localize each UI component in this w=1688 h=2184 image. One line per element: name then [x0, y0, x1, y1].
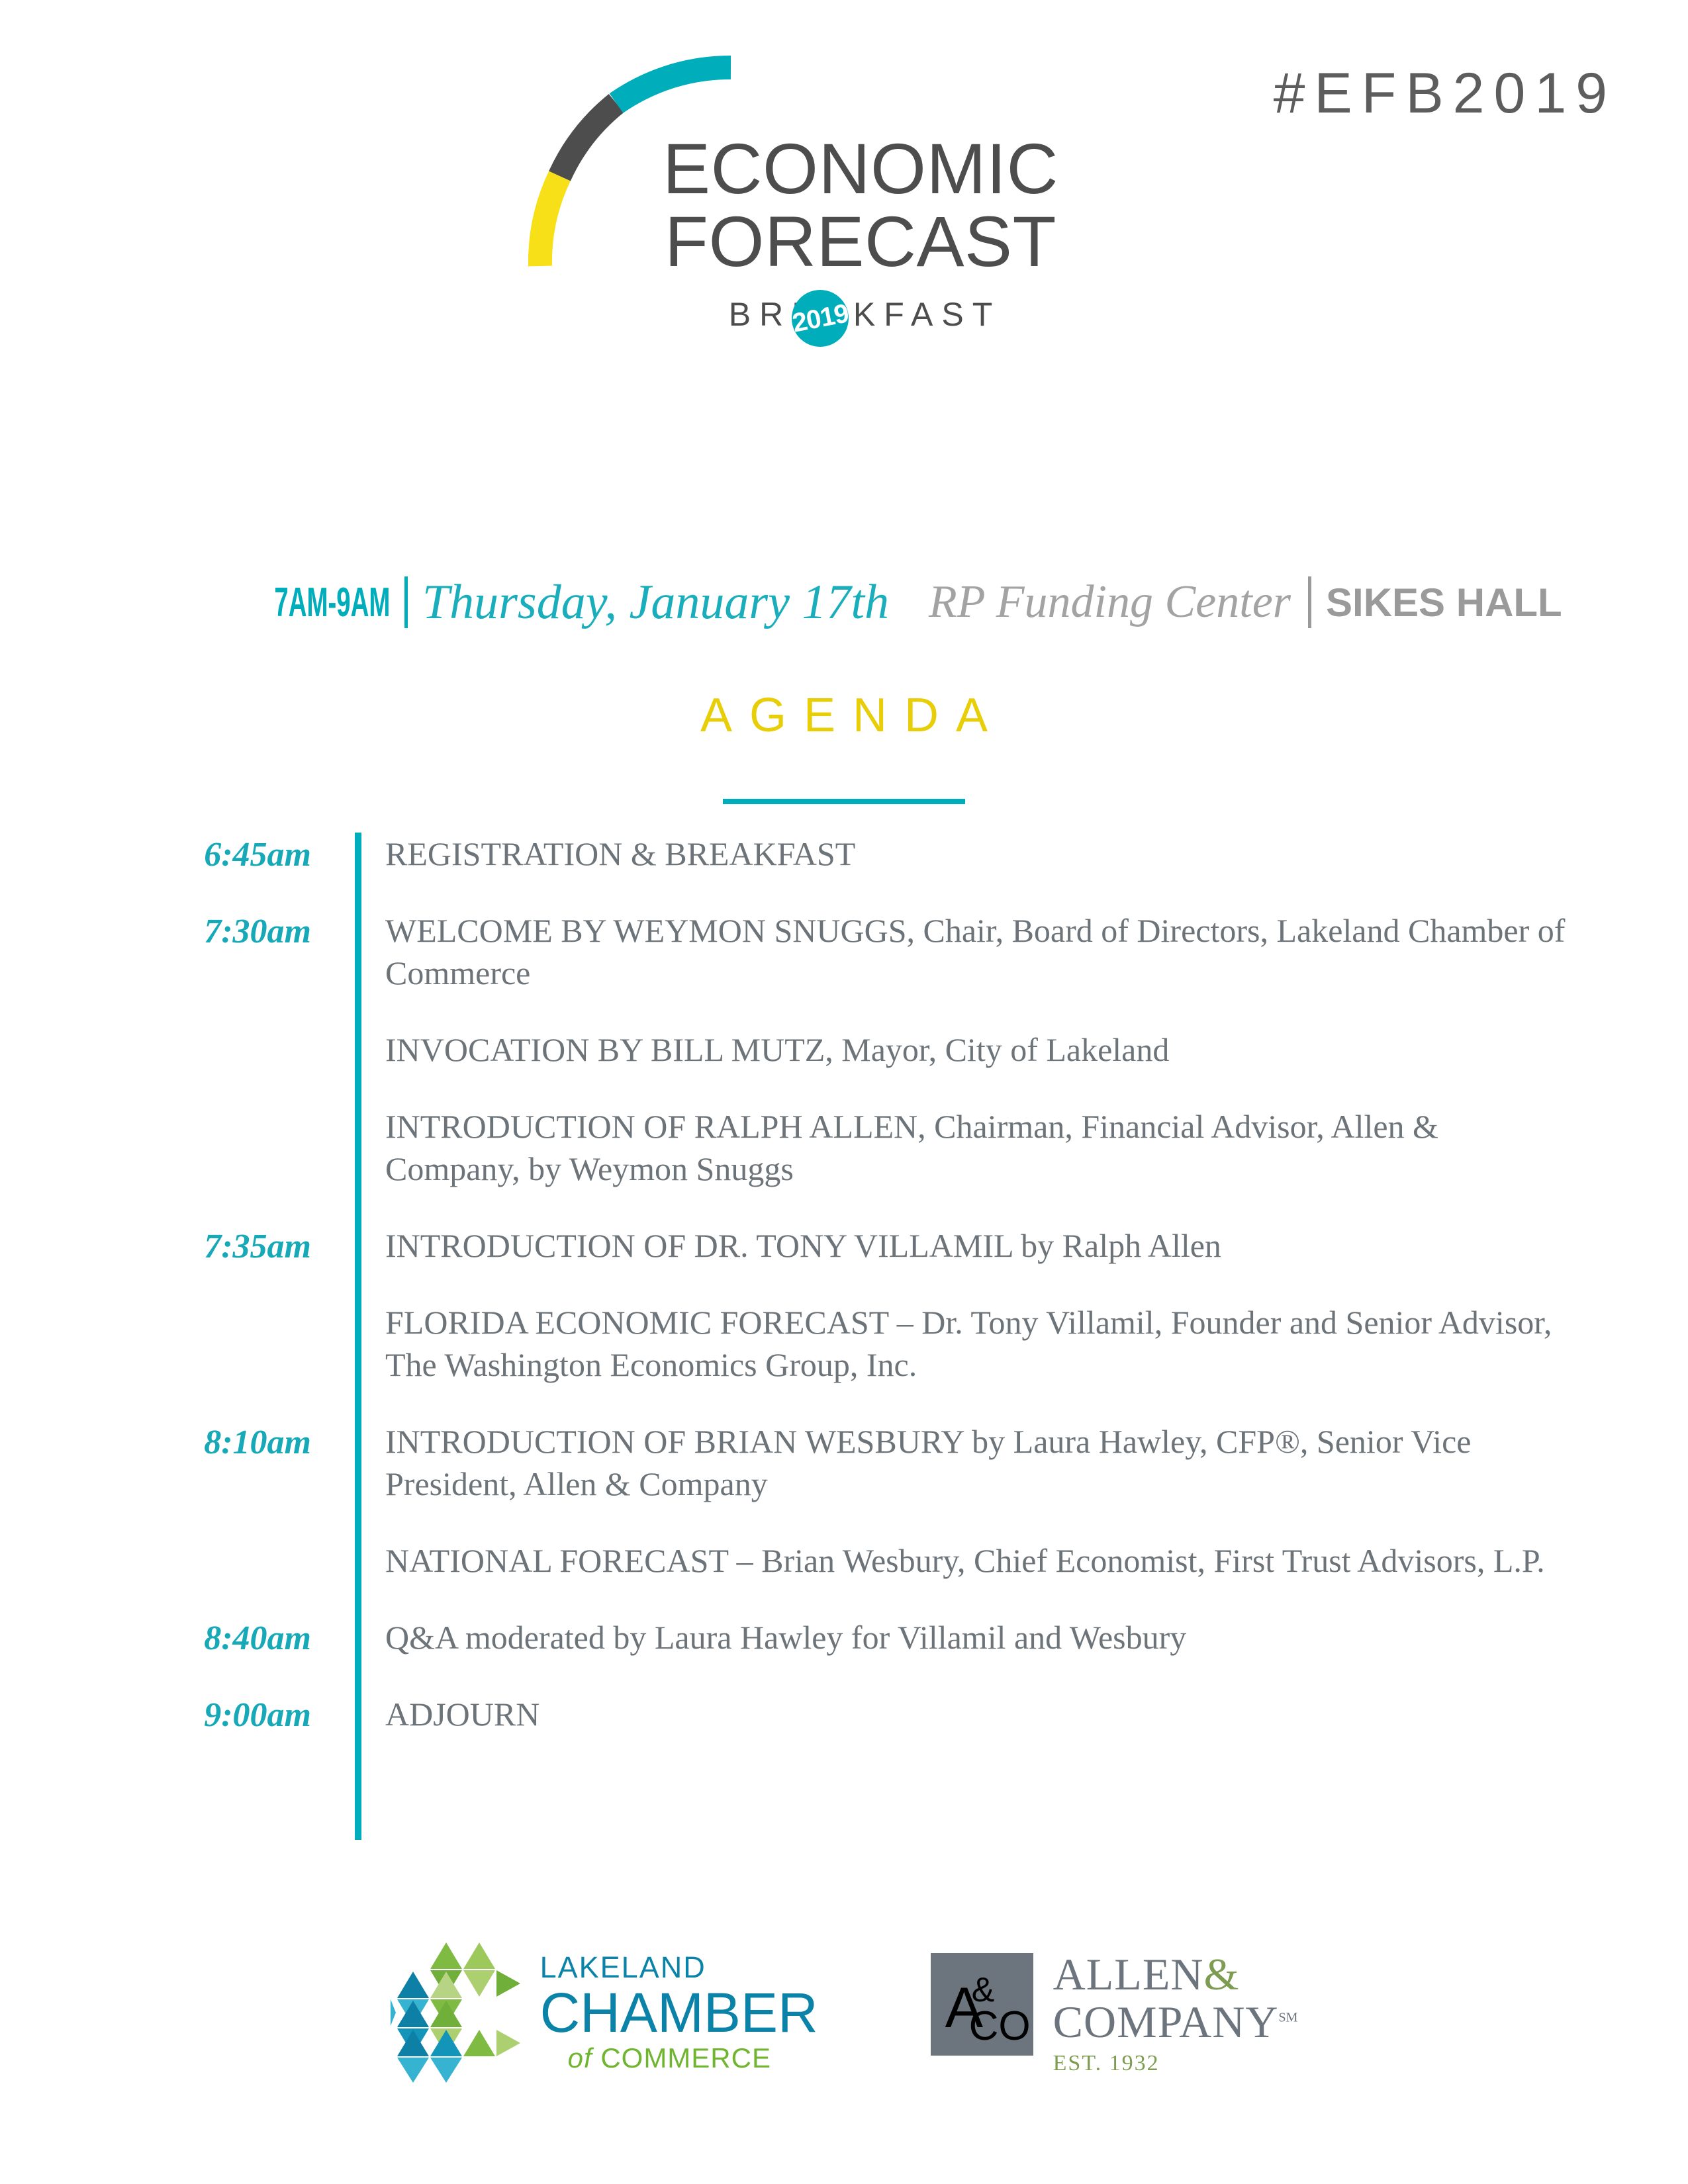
allen-and-company-logo: A & CO ALLEN& COMPANYSM EST. 1932 [931, 1949, 1298, 2075]
agenda-row: 7:35am INTRODUCTION OF DR. TONY VILLAMIL… [0, 1224, 1688, 1267]
allen-monogram-co: CO [969, 2006, 1031, 2047]
economic-forecast-breakfast-logo: ECONOMIC FORECAST BREAKFAST 2019 [0, 46, 1688, 483]
agenda-row-time: 8:40am [0, 1616, 350, 1658]
agenda-row-text: INTRODUCTION OF BRIAN WESBURY by Laura H… [385, 1420, 1577, 1505]
allen-wordmark: ALLEN& COMPANYSM EST. 1932 [1053, 1949, 1298, 2075]
logo-year-badge: 2019 [792, 290, 849, 347]
badge-year-label: 2019 [790, 298, 851, 338]
agenda-row: NATIONAL FORECAST – Brian Wesbury, Chief… [0, 1539, 1688, 1582]
event-date: Thursday, January 17th [422, 574, 889, 631]
allen-name-line1: ALLEN& [1053, 1952, 1298, 1997]
lakeland-chamber-logo: LAKELAND CHAMBER of COMMERCE [391, 1941, 818, 2083]
agenda-row-time: 6:45am [0, 833, 350, 874]
allen-company-label: COMPANY [1053, 1997, 1279, 2047]
event-details-bar: 7AM-9AM Thursday, January 17th RP Fundin… [0, 566, 1688, 639]
chamber-of-label: of [568, 2042, 592, 2073]
agenda-row-time: 8:10am [0, 1420, 350, 1462]
logo-line-breakfast: BREAKFAST [629, 295, 1092, 334]
badge-circle-icon: 2019 [792, 290, 849, 347]
agenda-row: 7:30am WELCOME BY WEYMON SNUGGS, Chair, … [0, 909, 1688, 994]
agenda-row-time: 7:35am [0, 1224, 350, 1266]
logo-line-forecast: FORECAST [629, 205, 1092, 278]
agenda-heading: AGENDA [0, 688, 1688, 743]
agenda-row: 6:45am REGISTRATION & BREAKFAST [0, 833, 1688, 875]
agenda-row-text: INTRODUCTION OF RALPH ALLEN, Chairman, F… [385, 1105, 1577, 1190]
allen-monogram-amp: & [972, 1973, 995, 2007]
agenda-row: INVOCATION BY BILL MUTZ, Mayor, City of … [0, 1028, 1688, 1071]
allen-name-line2: COMPANYSM [1053, 1999, 1298, 2044]
agenda-row-time [0, 1301, 350, 1304]
agenda-row-text: INVOCATION BY BILL MUTZ, Mayor, City of … [385, 1028, 1169, 1071]
agenda-row: 8:40am Q&A moderated by Laura Hawley for… [0, 1616, 1688, 1659]
allen-ampersand: & [1203, 1949, 1239, 1999]
agenda-row-text: Q&A moderated by Laura Hawley for Villam… [385, 1616, 1186, 1659]
agenda-list: 6:45am REGISTRATION & BREAKFAST 7:30am W… [0, 833, 1688, 1770]
event-divider-2 [1308, 576, 1311, 628]
event-hall: SIKES HALL [1326, 580, 1562, 625]
allen-allen-label: ALLEN [1053, 1949, 1204, 1999]
chamber-lakeland-label: LAKELAND [540, 1952, 818, 1982]
agenda-row-time: 9:00am [0, 1693, 350, 1735]
agenda-row-time [0, 1028, 350, 1031]
allen-established-label: EST. 1932 [1053, 2052, 1298, 2075]
agenda-row-time [0, 1105, 350, 1108]
agenda-row: INTRODUCTION OF RALPH ALLEN, Chairman, F… [0, 1105, 1688, 1190]
event-venue: RP Funding Center [929, 576, 1291, 629]
agenda-row-text: FLORIDA ECONOMIC FORECAST – Dr. Tony Vil… [385, 1301, 1577, 1386]
event-time: 7AM-9AM [274, 579, 390, 626]
chamber-commerce-label: COMMERCE [600, 2042, 771, 2073]
agenda-row-time [0, 1539, 350, 1542]
agenda-row-text: NATIONAL FORECAST – Brian Wesbury, Chief… [385, 1539, 1545, 1582]
allen-service-mark: SM [1278, 2010, 1297, 2025]
agenda-row-text: ADJOURN [385, 1693, 539, 1735]
agenda-row: FLORIDA ECONOMIC FORECAST – Dr. Tony Vil… [0, 1301, 1688, 1386]
agenda-row-text: WELCOME BY WEYMON SNUGGS, Chair, Board o… [385, 909, 1577, 994]
agenda-row-time: 7:30am [0, 909, 350, 951]
agenda-row: 9:00am ADJOURN [0, 1693, 1688, 1735]
logo-line-economic: ECONOMIC [629, 132, 1092, 205]
chamber-mosaic-icon [391, 1941, 523, 2083]
agenda-row: 8:10am INTRODUCTION OF BRIAN WESBURY by … [0, 1420, 1688, 1505]
footer-sponsor-logos: LAKELAND CHAMBER of COMMERCE A & CO ALLE… [0, 1919, 1688, 2105]
chamber-chamber-label: CHAMBER [540, 1985, 818, 2040]
chamber-wordmark: LAKELAND CHAMBER of COMMERCE [540, 1952, 818, 2072]
chamber-of-commerce-label: of COMMERCE [540, 2044, 818, 2072]
agenda-heading-underline [723, 799, 965, 804]
agenda-row-text: REGISTRATION & BREAKFAST [385, 833, 855, 875]
allen-monogram-icon: A & CO [931, 1953, 1033, 2056]
event-divider-1 [404, 576, 408, 628]
agenda-row-text: INTRODUCTION OF DR. TONY VILLAMIL by Ral… [385, 1224, 1221, 1267]
